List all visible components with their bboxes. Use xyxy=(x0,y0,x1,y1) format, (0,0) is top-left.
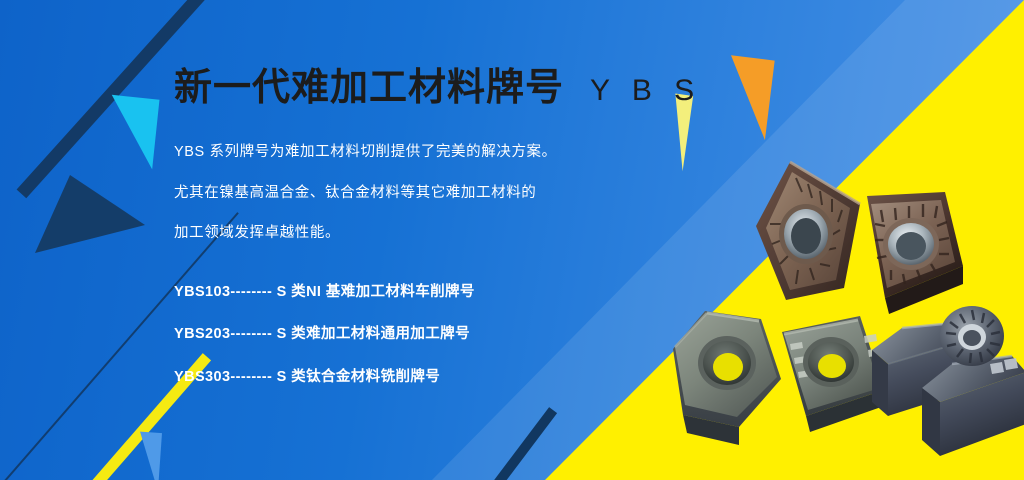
banner-title: 新一代难加工材料牌号 Y B S xyxy=(174,64,644,107)
title-chinese: 新一代难加工材料牌号 xyxy=(174,69,564,107)
grade-list: YBS103-------- S 类NI 基难加工材料车削牌号 YBS203--… xyxy=(174,285,644,385)
grade-item-ybs203: YBS203-------- S 类难加工材料通用加工牌号 xyxy=(174,327,644,342)
title-english: Y B S xyxy=(590,76,701,106)
grade-item-ybs103: YBS103-------- S 类NI 基难加工材料车削牌号 xyxy=(174,285,644,300)
grade-item-ybs303: YBS303-------- S 类钛合金材料铣削牌号 xyxy=(174,370,644,385)
description-line: 尤其在镍基高温合金、钛合金材料等其它难加工材料的 xyxy=(174,186,644,201)
banner-copy: 新一代难加工材料牌号 Y B S YBS 系列牌号为难加工材料切削提供了完美的解… xyxy=(174,64,644,412)
decor-cyan-triangle xyxy=(85,93,160,170)
decor-lightblue-triangle xyxy=(126,431,162,480)
decor-orange-triangle xyxy=(711,54,774,140)
promotional-banner: 新一代难加工材料牌号 Y B S YBS 系列牌号为难加工材料切削提供了完美的解… xyxy=(0,0,1024,480)
description-line: 加工领域发挥卓越性能。 xyxy=(174,226,644,241)
description-block: YBS 系列牌号为难加工材料切削提供了完美的解决方案。 尤其在镍基高温合金、钛合… xyxy=(174,145,644,241)
description-line: YBS 系列牌号为难加工材料切削提供了完美的解决方案。 xyxy=(174,145,644,160)
